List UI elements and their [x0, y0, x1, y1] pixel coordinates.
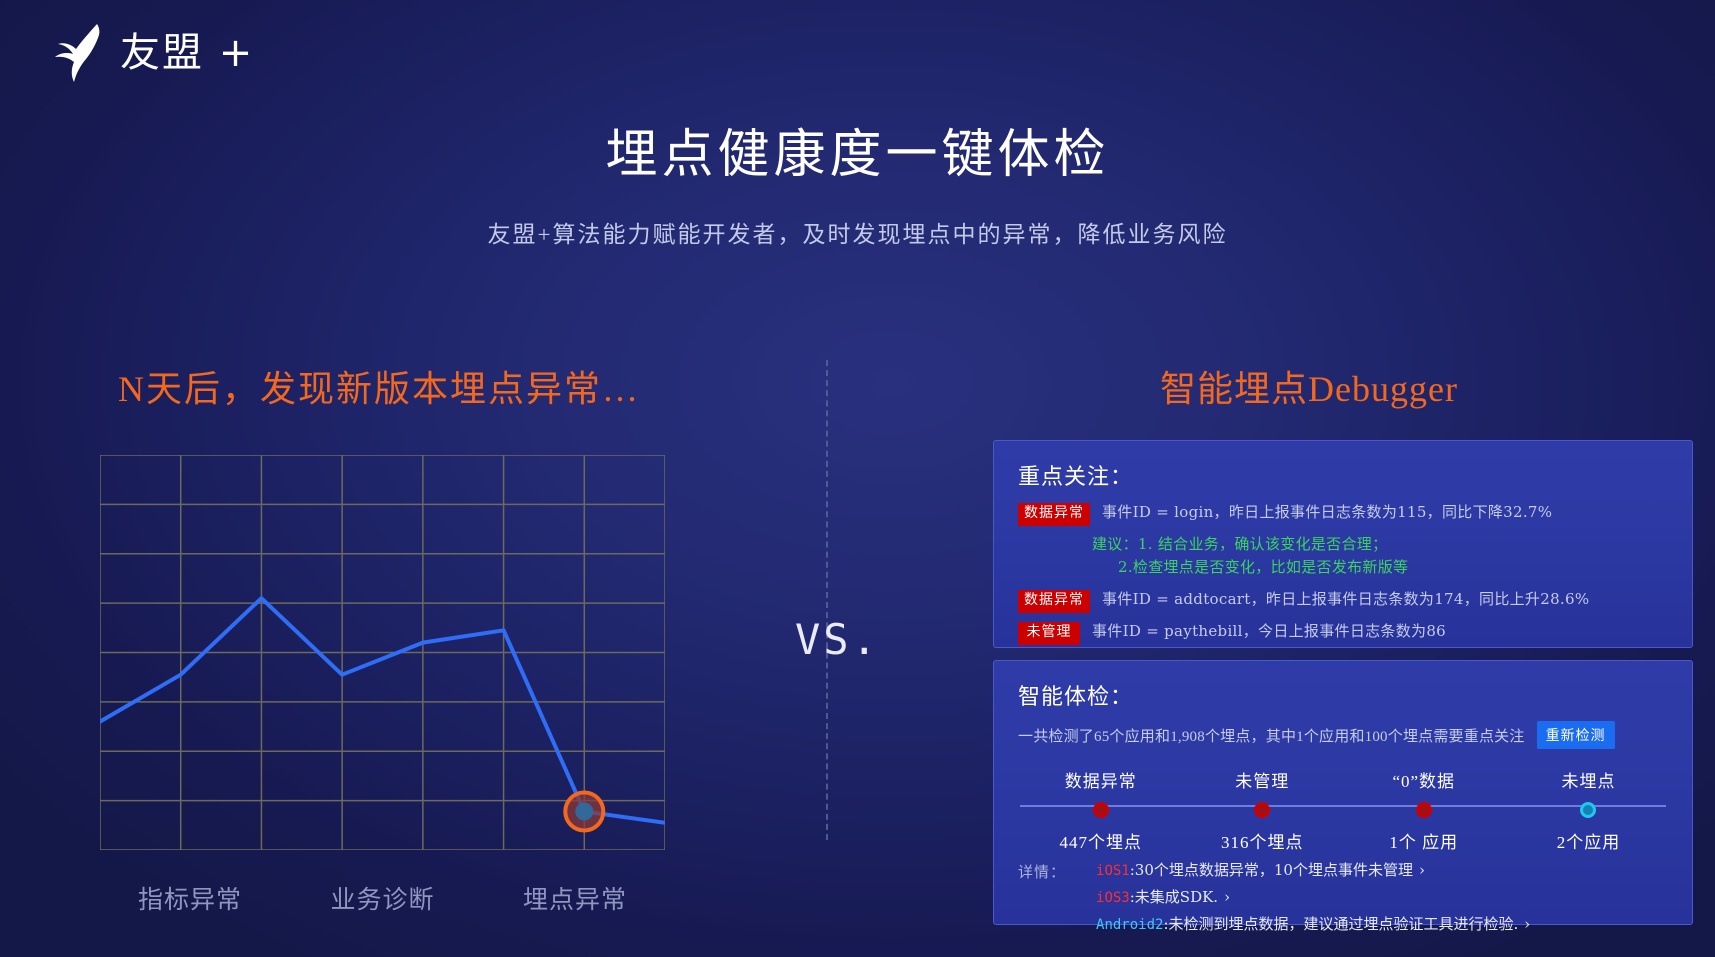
issue-row[interactable]: 未管理 事件ID = paythebill，今日上报事件日志条数为86: [1018, 620, 1692, 645]
column-divider: [826, 360, 828, 840]
metric-item-2[interactable]: “0”数据 1个 应用: [1349, 767, 1499, 853]
issue-row[interactable]: 数据异常 事件ID = addtocart，昨日上报事件日志条数为174，同比上…: [1018, 588, 1692, 613]
issue-text: 事件ID = login，昨日上报事件日志条数为115，同比下降32.7%: [1102, 501, 1552, 522]
metrics-track: 数据异常 447个埋点 未管理 316个埋点 “0”数据 1个 应用 未埋点 2…: [1020, 767, 1666, 845]
focus-panel: 重点关注： 数据异常 事件ID = login，昨日上报事件日志条数为115，同…: [993, 440, 1693, 648]
metric-value: 2个应用: [1513, 828, 1663, 853]
chart-grid: [100, 455, 665, 850]
chart-label-0: 指标异常: [138, 880, 242, 916]
status-badge: 数据异常: [1018, 503, 1090, 526]
page-header: 埋点健康度一键体检 友盟+算法能力赋能开发者，及时发现埋点中的异常，降低业务风险: [0, 112, 1715, 249]
issue-text: 事件ID = addtocart，昨日上报事件日志条数为174，同比上升28.6…: [1102, 588, 1589, 609]
chart-label-2: 埋点异常: [523, 880, 627, 916]
exam-summary-text: 一共检测了65个应用和1,908个埋点，其中1个应用和100个埋点需要重点关注: [1018, 725, 1525, 746]
advice-line-2: 2.检查埋点是否变化，比如是否发布新版等: [1092, 556, 1692, 579]
issue-advice: 建议：1. 结合业务，确认该变化是否合理； 2.检查埋点是否变化，比如是否发布新…: [1092, 533, 1692, 578]
page-title: 埋点健康度一键体检: [0, 112, 1715, 187]
page-subtitle: 友盟+算法能力赋能开发者，及时发现埋点中的异常，降低业务风险: [0, 215, 1715, 249]
chart-line-series: [100, 598, 665, 823]
metric-dot-icon: [1254, 802, 1270, 818]
metric-dot-icon: [1093, 802, 1109, 818]
chevron-right-icon: ›: [1224, 888, 1230, 906]
status-badge: 数据异常: [1018, 590, 1090, 613]
metric-value: 316个埋点: [1187, 828, 1337, 853]
detail-app-name: iOS3: [1096, 890, 1130, 906]
exam-panel: 智能体检： 一共检测了65个应用和1,908个埋点，其中1个应用和100个埋点需…: [993, 660, 1693, 925]
left-section-heading: N天后，发现新版本埋点异常…: [118, 360, 640, 412]
recheck-button[interactable]: 重新检测: [1537, 721, 1615, 749]
metric-item-3[interactable]: 未埋点 2个应用: [1513, 767, 1663, 853]
metric-label: 未管理: [1187, 767, 1337, 792]
detail-link-ios1[interactable]: iOS1:30个埋点数据异常，10个埋点事件未管理›: [1096, 859, 1530, 880]
bird-logo-icon: [52, 22, 106, 84]
details-label: 详情：: [1018, 859, 1066, 882]
detail-app-name: iOS1: [1096, 863, 1130, 879]
right-section-heading: 智能埋点Debugger: [1160, 360, 1458, 412]
metric-dot-icon: [1580, 802, 1596, 818]
chart-anomaly-marker: [565, 792, 603, 830]
focus-panel-title: 重点关注：: [1018, 459, 1692, 491]
detail-link-android2[interactable]: Android2:未检测到埋点数据，建议通过埋点验证工具进行检验.›: [1096, 913, 1530, 934]
metric-value: 447个埋点: [1026, 828, 1176, 853]
exam-panel-title: 智能体检：: [1018, 679, 1692, 711]
metric-value: 1个 应用: [1349, 828, 1499, 853]
issue-row[interactable]: 数据异常 事件ID = login，昨日上报事件日志条数为115，同比下降32.…: [1018, 501, 1692, 526]
metric-dot-icon: [1416, 802, 1432, 818]
metric-label: “0”数据: [1349, 767, 1499, 792]
detail-text: :未检测到埋点数据，建议通过埋点验证工具进行检验.: [1163, 915, 1518, 933]
detail-link-ios3[interactable]: iOS3:未集成SDK.›: [1096, 886, 1530, 907]
vs-label: VS.: [795, 615, 880, 664]
anomaly-line-chart: [100, 455, 665, 850]
metric-label: 数据异常: [1026, 767, 1176, 792]
chart-category-labels: 指标异常 业务诊断 埋点异常: [100, 880, 665, 916]
details-section: 详情： iOS1:30个埋点数据异常，10个埋点事件未管理› iOS3:未集成S…: [1018, 859, 1692, 934]
brand-name: 友盟 +: [120, 33, 254, 73]
metric-item-0[interactable]: 数据异常 447个埋点: [1026, 767, 1176, 853]
exam-summary-row: 一共检测了65个应用和1,908个埋点，其中1个应用和100个埋点需要重点关注 …: [1018, 721, 1692, 749]
advice-line-1: 建议：1. 结合业务，确认该变化是否合理；: [1092, 535, 1387, 553]
metric-item-1[interactable]: 未管理 316个埋点: [1187, 767, 1337, 853]
chevron-right-icon: ›: [1524, 915, 1530, 933]
brand-logo: 友盟 +: [52, 22, 254, 84]
status-badge: 未管理: [1018, 622, 1080, 645]
chart-label-1: 业务诊断: [330, 880, 434, 916]
detail-app-name: Android2: [1096, 917, 1163, 933]
metric-label: 未埋点: [1513, 767, 1663, 792]
chevron-right-icon: ›: [1419, 861, 1425, 879]
detail-text: :30个埋点数据异常，10个埋点事件未管理: [1130, 861, 1413, 879]
detail-text: :未集成SDK.: [1130, 888, 1218, 906]
issue-text: 事件ID = paythebill，今日上报事件日志条数为86: [1092, 620, 1446, 641]
